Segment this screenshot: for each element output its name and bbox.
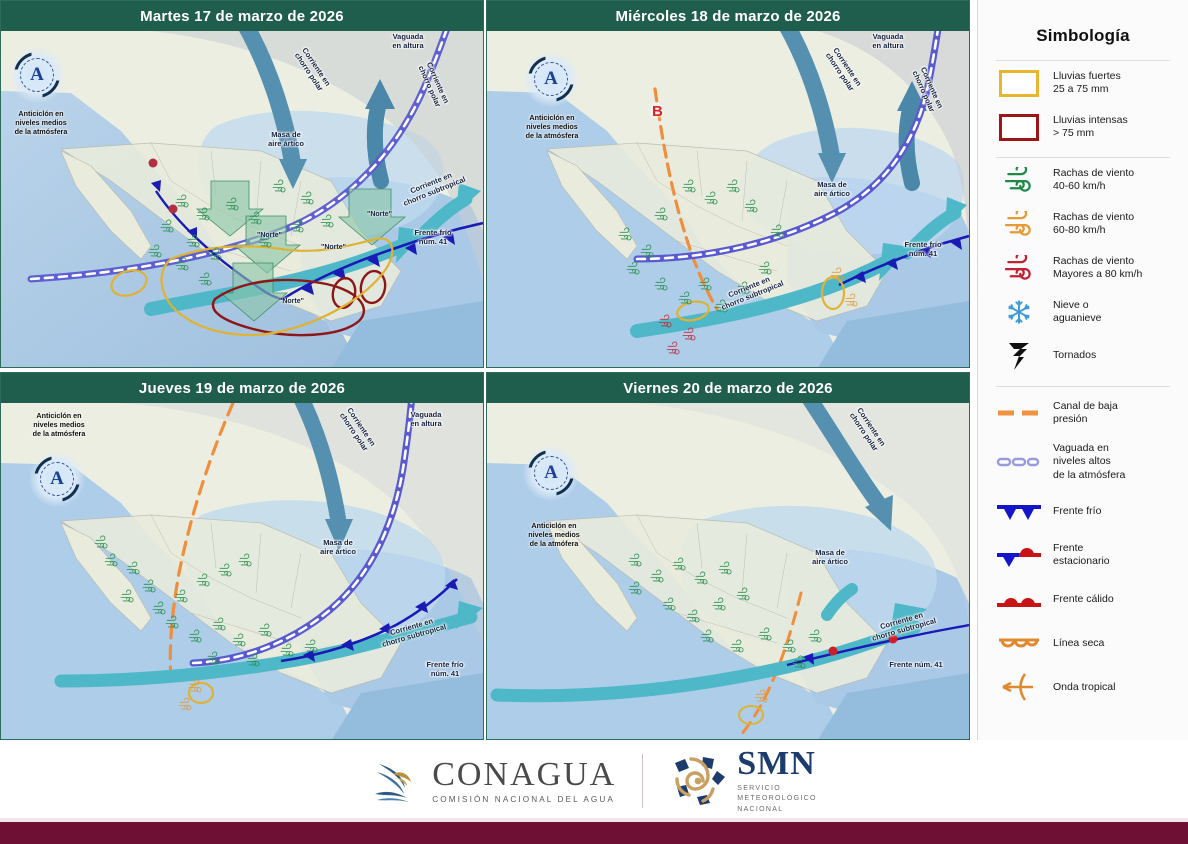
norte-label-4: "Norte": [279, 298, 304, 305]
panel-title-viernes: Viernes 20 de marzo de 2026: [487, 373, 969, 403]
legend-item-rachas-60-80[interactable]: Rachas de viento 60-80 km/h: [978, 202, 1188, 246]
low-pressure-channel-icon: [996, 398, 1042, 428]
wind-gust-red-icon: [996, 253, 1042, 283]
smn-spiral-icon: [669, 755, 727, 807]
legend-item-lluvias-intensas[interactable]: Lluvias intensas > 75 mm: [978, 105, 1188, 149]
rain-box-darkred-icon: [996, 112, 1042, 142]
legend-rows: Lluvias fuertes 25 a 75 mm Lluvias inten…: [978, 61, 1188, 709]
cold-front-icon: [996, 496, 1042, 526]
legend-label: Lluvias intensas > 75 mm: [1053, 114, 1128, 141]
map-graphic-martes: [1, 31, 483, 368]
legend-item-linea-seca[interactable]: Línea seca: [978, 621, 1188, 665]
legend-label: Tornados: [1053, 349, 1096, 362]
conagua-name: CONAGUA: [432, 758, 616, 792]
anticyclone-a-letter: A: [523, 445, 579, 501]
legend-label: Vaguada en niveles altos de la atmósfera: [1053, 442, 1125, 482]
anticyclone-label-jueves: Anticiclón en niveles medios de la atmós…: [17, 411, 101, 438]
legend-item-frente-frio[interactable]: Frente frío: [978, 489, 1188, 533]
legend-item-rachas-mayores-80[interactable]: Rachas de viento Mayores a 80 km/h: [978, 246, 1188, 290]
conagua-subtitle: COMISIÓN NACIONAL DEL AGUA: [432, 795, 616, 804]
anticyclone-a-letter: A: [523, 51, 579, 107]
legend-item-nieve[interactable]: Nieve o aguanieve: [978, 290, 1188, 334]
panel-title-martes: Martes 17 de marzo de 2026: [1, 1, 483, 31]
wind-gust-green-icon: [996, 165, 1042, 195]
legend-label: Nieve o aguanieve: [1053, 299, 1101, 326]
upper-level-trough-icon: [996, 447, 1042, 477]
legend-item-frente-calido[interactable]: Frente cálido: [978, 577, 1188, 621]
map-panel-martes[interactable]: Martes 17 de marzo de 2026: [0, 0, 484, 368]
map-canvas-martes: [1, 31, 483, 368]
legend-label: Canal de baja presión: [1053, 400, 1118, 427]
legend-title: Simbología: [978, 26, 1188, 46]
legend-label: Onda tropical: [1053, 681, 1115, 694]
legend-label: Rachas de viento Mayores a 80 km/h: [1053, 255, 1142, 282]
legend-label: Rachas de viento 60-80 km/h: [1053, 211, 1134, 238]
warm-front-icon: [996, 584, 1042, 614]
conagua-logo: CONAGUA COMISIÓN NACIONAL DEL AGUA: [371, 756, 616, 806]
map-panel-jueves[interactable]: Jueves 19 de marzo de 2026: [0, 372, 484, 740]
norte-label-1: "Norte": [257, 232, 282, 239]
forecast-sheet: Martes 17 de marzo de 2026: [0, 0, 1188, 844]
anticyclone-a-letter: A: [9, 47, 65, 103]
snowflake-icon: [996, 297, 1042, 327]
smn-subtitle: SERVICIO METEOROLÓGICO NACIONAL: [737, 784, 817, 814]
anticyclone-label-miercoles: Anticiclón en niveles medios de la atmós…: [511, 113, 593, 140]
rain-box-yellow-icon: [996, 68, 1042, 98]
legend-label: Rachas de viento 40-60 km/h: [1053, 167, 1134, 194]
map-panel-miercoles[interactable]: Miércoles 18 de marzo de 2026: [486, 0, 970, 368]
anticyclone-label-martes: Anticiclón en niveles medios de la atmós…: [1, 109, 81, 136]
legend-divider-3: [996, 386, 1170, 387]
legend-label: Lluvias fuertes 25 a 75 mm: [1053, 70, 1121, 97]
smn-name: SMN: [737, 747, 817, 781]
footer: CONAGUA COMISIÓN NACIONAL DEL AGUA: [0, 740, 1188, 822]
low-pressure-marker-miercoles: B: [652, 103, 663, 120]
legend-item-vaguada[interactable]: Vaguada en niveles altos de la atmósfera: [978, 435, 1188, 489]
legend-label: Frente frío: [1053, 505, 1101, 518]
legend-item-frente-estacionario[interactable]: Frente estacionario: [978, 533, 1188, 577]
smn-logo: SMN SERVICIO METEOROLÓGICO NACIONAL: [669, 747, 817, 814]
panel-title-jueves: Jueves 19 de marzo de 2026: [1, 373, 483, 403]
panel-title-miercoles: Miércoles 18 de marzo de 2026: [487, 1, 969, 31]
tornado-icon: [996, 341, 1042, 371]
legend-item-onda-tropical[interactable]: Onda tropical: [978, 665, 1188, 709]
bottom-bar: [0, 822, 1188, 844]
wind-gust-orange-icon: [996, 209, 1042, 239]
anticyclone-badge-viernes: A: [523, 445, 579, 501]
legend-item-rachas-40-60[interactable]: Rachas de viento 40-60 km/h: [978, 158, 1188, 202]
footer-divider: [642, 754, 643, 808]
legend-panel: Simbología Lluvias fuertes 25 a 75 mm Ll…: [977, 0, 1188, 740]
anticyclone-badge-jueves: A: [29, 451, 85, 507]
norte-label-2: "Norte": [321, 244, 346, 251]
legend-item-canal-baja-presion[interactable]: Canal de baja presión: [978, 391, 1188, 435]
footer-logos: CONAGUA COMISIÓN NACIONAL DEL AGUA: [371, 747, 817, 814]
legend-item-lluvias-fuertes[interactable]: Lluvias fuertes 25 a 75 mm: [978, 61, 1188, 105]
tropical-wave-icon: [996, 672, 1042, 702]
legend-label: Línea seca: [1053, 637, 1104, 650]
map-panel-viernes[interactable]: Viernes 20 de marzo de 2026: [486, 372, 970, 740]
conagua-wordmark: CONAGUA COMISIÓN NACIONAL DEL AGUA: [432, 758, 616, 804]
conagua-eagle-water-icon: [371, 756, 421, 806]
anticyclone-badge-miercoles: A: [523, 51, 579, 107]
anticyclone-label-viernes: Anticiclón en niveles medios de la atmóf…: [511, 521, 597, 548]
anticyclone-badge-martes: A: [9, 47, 65, 103]
dry-line-icon: [996, 628, 1042, 658]
norte-label-3: "Norte": [367, 211, 392, 218]
stationary-front-icon: [996, 540, 1042, 570]
anticyclone-a-letter: A: [29, 451, 85, 507]
maps-area: Martes 17 de marzo de 2026: [0, 0, 974, 740]
legend-label: Frente cálido: [1053, 593, 1114, 606]
smn-wordmark: SMN SERVICIO METEOROLÓGICO NACIONAL: [737, 747, 817, 814]
legend-item-tornados[interactable]: Tornados: [978, 334, 1188, 378]
legend-label: Frente estacionario: [1053, 542, 1110, 569]
